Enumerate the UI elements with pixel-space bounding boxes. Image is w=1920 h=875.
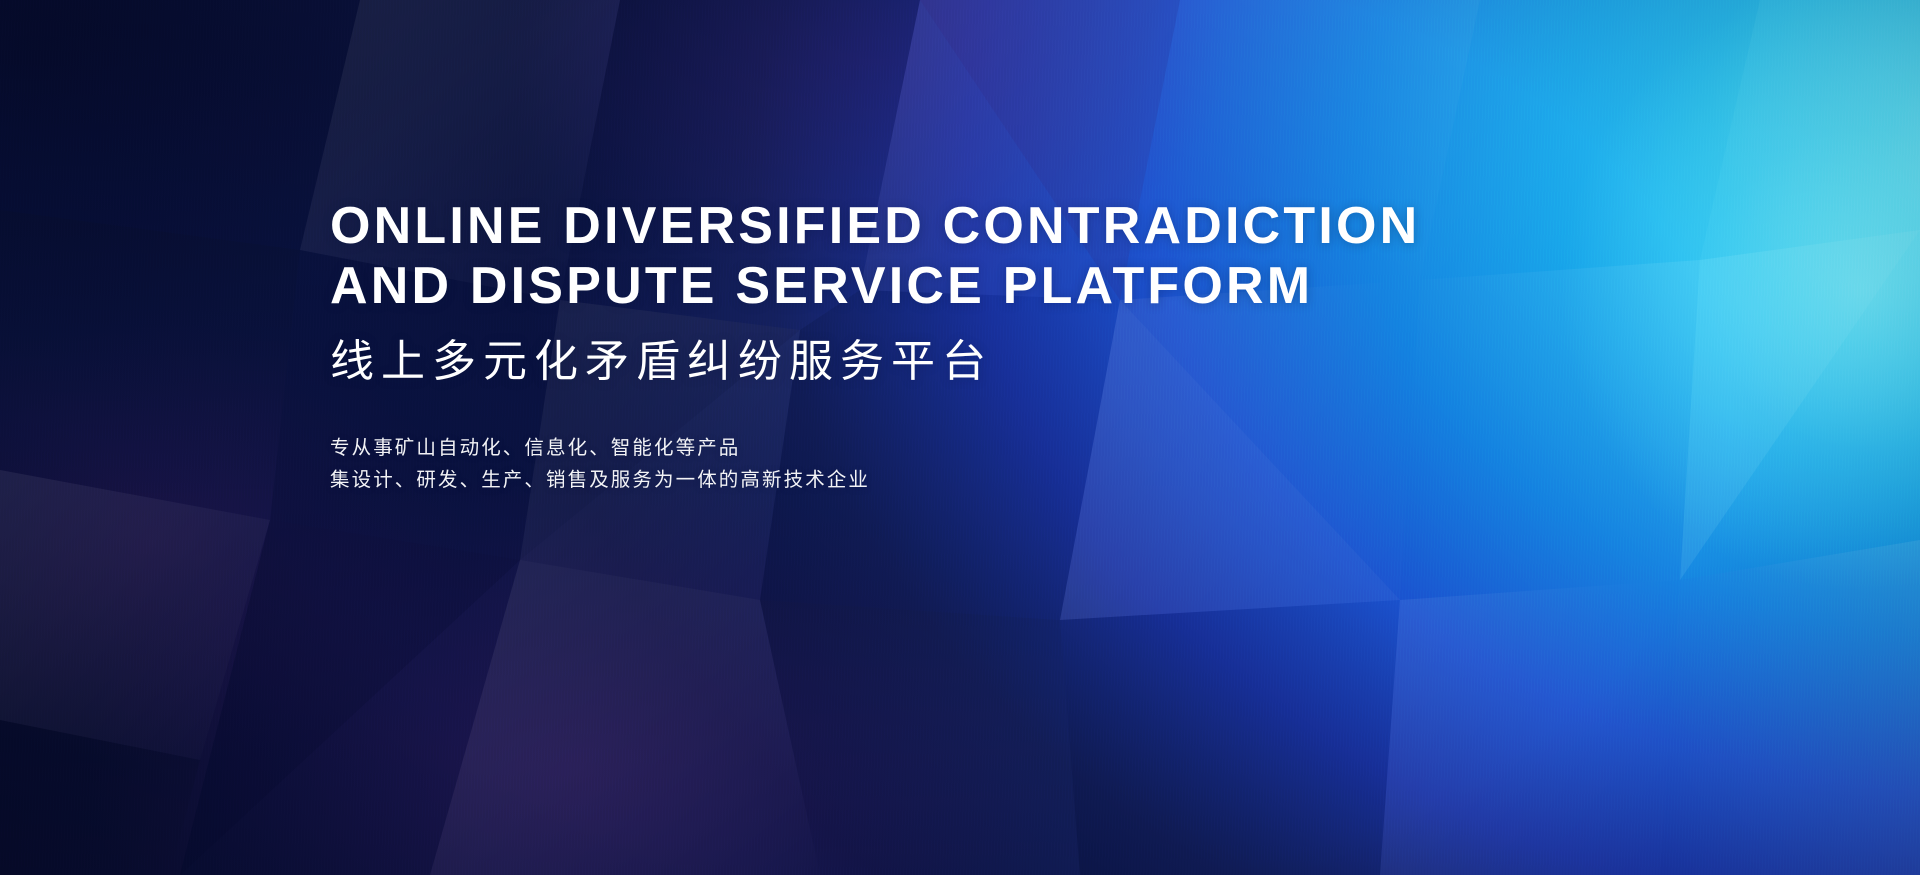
headline-english-line-2: AND DISPUTE SERVICE PLATFORM	[330, 256, 1420, 316]
tagline-line-2: 集设计、研发、生产、销售及服务为一体的高新技术企业	[330, 464, 1420, 496]
headline-english: ONLINE DIVERSIFIED CONTRADICTION AND DIS…	[330, 196, 1420, 316]
headline-chinese: 线上多元化矛盾纠纷服务平台	[330, 336, 1420, 388]
tagline-line-1: 专从事矿山自动化、信息化、智能化等产品	[330, 432, 1420, 464]
hero-content: ONLINE DIVERSIFIED CONTRADICTION AND DIS…	[330, 196, 1420, 496]
headline-english-line-1: ONLINE DIVERSIFIED CONTRADICTION	[330, 196, 1420, 256]
hero-banner: ONLINE DIVERSIFIED CONTRADICTION AND DIS…	[0, 0, 1920, 875]
tagline-group: 专从事矿山自动化、信息化、智能化等产品 集设计、研发、生产、销售及服务为一体的高…	[330, 432, 1420, 496]
